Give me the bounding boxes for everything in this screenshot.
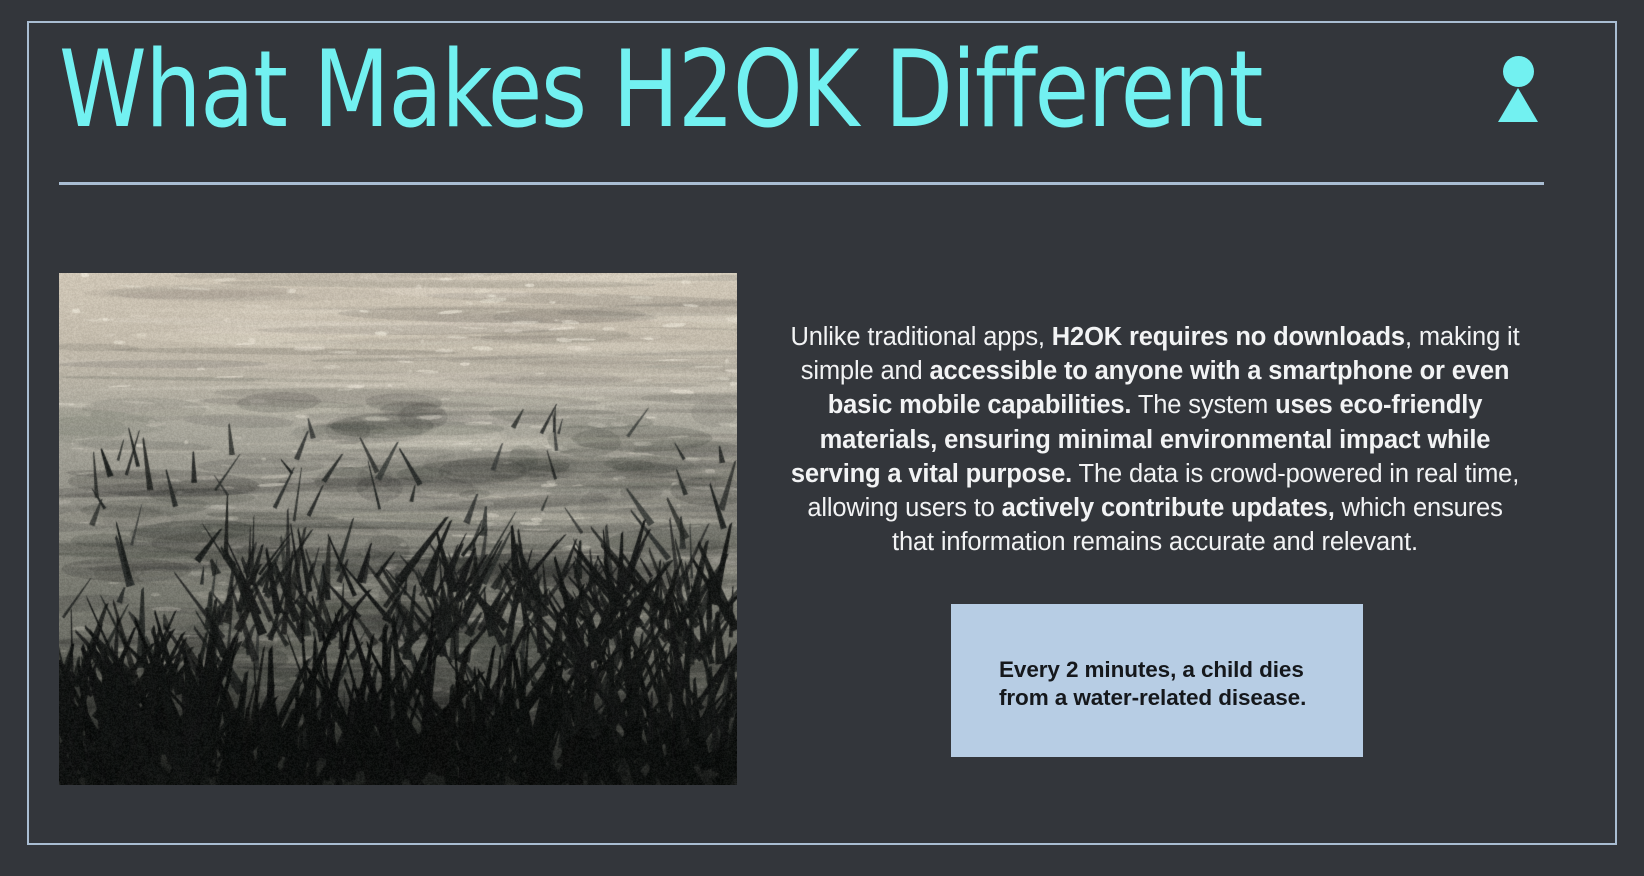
- slide-canvas: What Makes H2OK Different Unlike traditi…: [0, 0, 1644, 876]
- body-text-run: Unlike traditional apps,: [790, 323, 1051, 351]
- statistic-callout-box: Every 2 minutes, a child dies from a wat…: [951, 604, 1363, 757]
- slide-header: What Makes H2OK Different: [59, 34, 1544, 186]
- person-droplet-icon-body: [1498, 88, 1538, 122]
- body-text-column: Unlike traditional apps, H2OK requires n…: [790, 320, 1520, 559]
- title-divider: [59, 182, 1544, 185]
- body-paragraph: Unlike traditional apps, H2OK requires n…: [790, 320, 1520, 559]
- page-title: What Makes H2OK Different: [59, 26, 1262, 154]
- person-droplet-icon: [1495, 56, 1541, 134]
- statistic-callout-text: Every 2 minutes, a child dies from a wat…: [999, 656, 1349, 712]
- body-text-emphasis: actively contribute updates,: [1002, 494, 1335, 522]
- water-shoreline-photo-canvas: [59, 273, 737, 785]
- body-text-run: The system: [1131, 391, 1275, 419]
- person-droplet-icon-head: [1503, 56, 1534, 87]
- water-shoreline-photo: [59, 273, 737, 785]
- body-text-emphasis: H2OK requires no downloads: [1052, 323, 1405, 351]
